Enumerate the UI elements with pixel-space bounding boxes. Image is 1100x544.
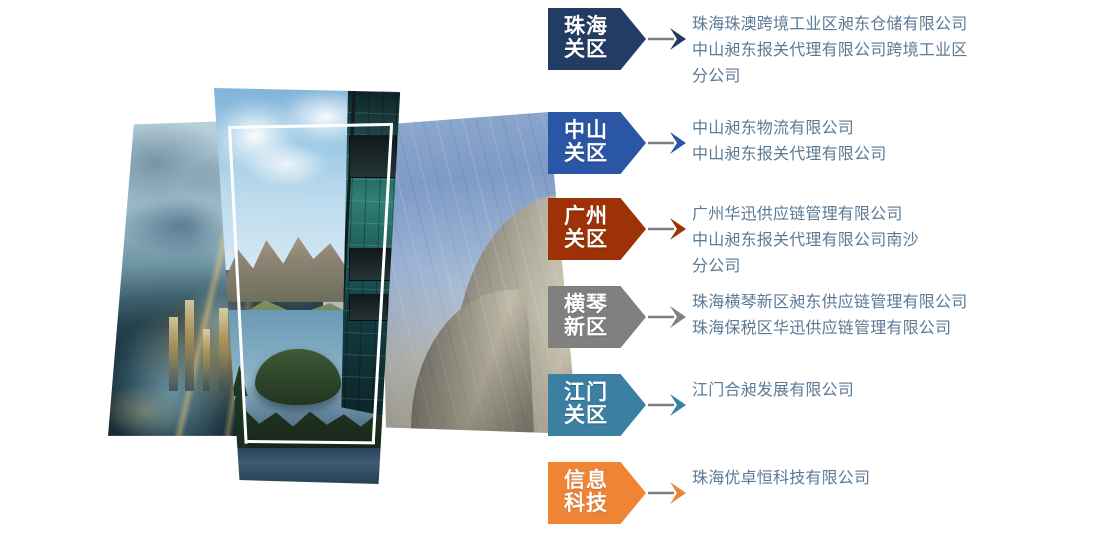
region-tag-line-1: 横琴 [564,294,608,317]
region-tag-line-1: 中山 [564,120,608,143]
frame-edge-top [231,123,393,129]
region-tag-line-1: 珠海 [564,16,608,39]
company-list: 江门合昶发展有限公司 [692,374,1100,404]
company-list: 珠海珠澳跨境工业区昶东仓储有限公司 中山昶东报关代理有限公司跨境工业区 分公司 [692,8,1100,90]
region-tag-guangzhou[interactable]: 广州 关区 [548,198,646,260]
region-row: 信息 科技 珠海优卓恒科技有限公司 [548,462,1100,524]
city-blocks-texture [108,353,233,436]
company-name: 分公司 [692,64,1100,90]
region-company-list: 珠海 关区 珠海珠澳跨境工业区昶东仓储有限公司 中山昶东报关代理有限公司跨境工业… [548,0,1100,544]
region-tag-line-2: 关区 [564,405,608,428]
region-tag-line-2: 科技 [564,493,608,516]
company-name: 中山昶东物流有限公司 [692,116,1100,142]
region-tag-line-1: 广州 [564,206,608,229]
region-row: 广州 关区 广州华迅供应链管理有限公司 中山昶东报关代理有限公司南沙 分公司 [548,198,1100,280]
white-inset-frame [212,88,408,484]
region-row: 江门 关区 江门合昶发展有限公司 [548,374,1100,436]
region-tag-jiangmen[interactable]: 江门 关区 [548,374,646,436]
company-name: 中山昶东报关代理有限公司南沙 [692,228,1100,254]
collage-panel-landscape [212,88,408,484]
arrow-connector [646,462,692,524]
region-tag-xinxikeji[interactable]: 信息 科技 [548,462,646,524]
company-name: 珠海横琴新区昶东供应链管理有限公司 [692,290,1100,316]
region-row: 横琴 新区 珠海横琴新区昶东供应链管理有限公司 珠海保税区华迅供应链管理有限公司 [548,286,1100,348]
company-name: 中山昶东报关代理有限公司跨境工业区 [692,38,1100,64]
company-list: 中山昶东物流有限公司 中山昶东报关代理有限公司 [692,112,1100,168]
company-name: 珠海保税区华迅供应链管理有限公司 [692,316,1100,342]
company-name: 江门合昶发展有限公司 [692,378,1100,404]
company-list: 珠海优卓恒科技有限公司 [692,462,1100,492]
region-tag-line-2: 新区 [564,317,608,340]
arrow-connector [646,112,692,174]
company-name: 广州华迅供应链管理有限公司 [692,202,1100,228]
company-name: 中山昶东报关代理有限公司 [692,142,1100,168]
region-tag-line-2: 关区 [564,229,608,252]
photo-collage [0,0,540,544]
company-name: 珠海优卓恒科技有限公司 [692,466,1100,492]
arrow-connector [646,374,692,436]
company-list: 珠海横琴新区昶东供应链管理有限公司 珠海保税区华迅供应链管理有限公司 [692,286,1100,342]
infographic-root: 珠海 关区 珠海珠澳跨境工业区昶东仓储有限公司 中山昶东报关代理有限公司跨境工业… [0,0,1100,544]
region-row: 中山 关区 中山昶东物流有限公司 中山昶东报关代理有限公司 [548,112,1100,174]
region-tag-zhongshan[interactable]: 中山 关区 [548,112,646,174]
region-row: 珠海 关区 珠海珠澳跨境工业区昶东仓储有限公司 中山昶东报关代理有限公司跨境工业… [548,8,1100,90]
region-tag-line-2: 关区 [564,143,608,166]
region-tag-line-1: 信息 [564,470,608,493]
arrow-connector [646,8,692,70]
company-list: 广州华迅供应链管理有限公司 中山昶东报关代理有限公司南沙 分公司 [692,198,1100,280]
arrow-connector [646,286,692,348]
company-name: 珠海珠澳跨境工业区昶东仓储有限公司 [692,12,1100,38]
region-tag-line-1: 江门 [564,382,608,405]
company-name: 分公司 [692,254,1100,280]
frame-edge-bottom [247,440,375,444]
region-tag-line-2: 关区 [564,39,608,62]
region-tag-hengqin[interactable]: 横琴 新区 [548,286,646,348]
arrow-connector [646,198,692,260]
region-tag-zhuhai[interactable]: 珠海 关区 [548,8,646,70]
